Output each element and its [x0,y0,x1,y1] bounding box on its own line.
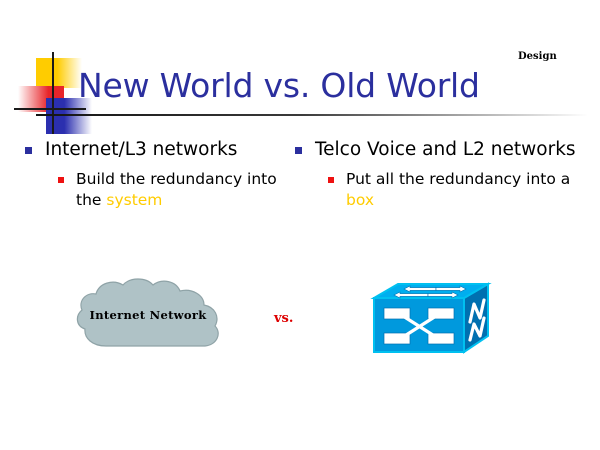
bullet-level2-text: Put all the redundancy into a [346,170,570,188]
square-sub-bullet-icon [58,177,64,183]
title-underline-rule [36,114,588,116]
bullet-level1-right: Telco Voice and L2 networks [288,138,578,162]
content-column-left: Internet/L3 networks Build the redundanc… [18,138,286,211]
bullet-level1-label: Internet/L3 networks [45,139,237,160]
logo-yellow-square [36,58,82,88]
slide-canvas: Design New World vs. Old World Internet/… [0,0,600,450]
bullet-level1-left: Internet/L3 networks [18,138,286,162]
square-bullet-icon [25,147,32,154]
bullet-level2-highlight: system [106,191,162,209]
content-column-right: Telco Voice and L2 networks Put all the … [288,138,578,211]
logo-vertical-line [52,52,54,134]
bullet-level2-right: Put all the redundancy into a box [288,169,578,211]
bullet-level2-left: Build the redundancy into the system [18,169,286,211]
logo-horizontal-line [14,108,86,110]
cloud-label: Internet Network [72,276,224,354]
header-design-label: Design [518,51,557,62]
square-bullet-icon [295,147,302,154]
slide-title: New World vs. Old World [78,66,480,105]
square-sub-bullet-icon [328,177,334,183]
network-switch-icon [370,278,494,364]
bullet-level2-highlight: box [346,191,374,209]
versus-label: vs. [274,311,293,326]
bullet-level1-label: Telco Voice and L2 networks [315,139,576,160]
